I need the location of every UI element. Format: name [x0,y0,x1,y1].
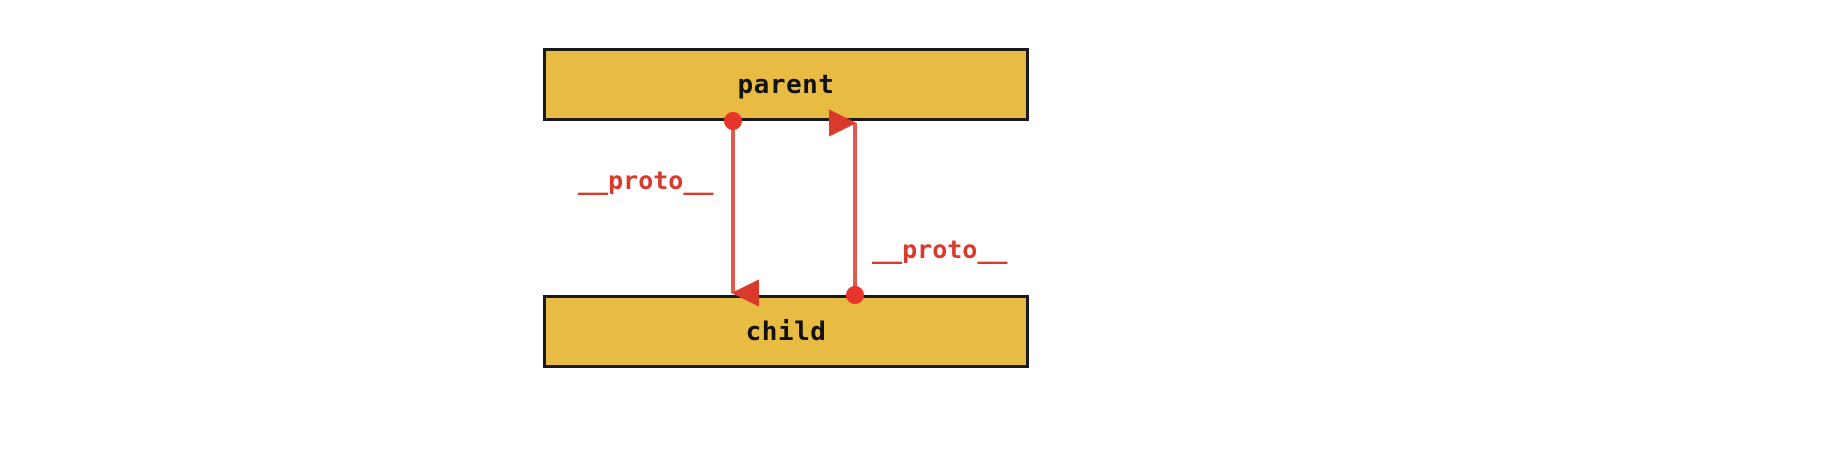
node-parent-label: parent [738,72,835,98]
node-child-label: child [746,319,827,345]
edge-label-proto-parent-to-child: __proto__ [578,168,713,193]
diagram-canvas: parent child __proto__ __proto__ [0,0,1829,462]
edge-parent-to-child[interactable] [724,112,742,293]
edge-label-proto-child-to-parent: __proto__ [872,237,1007,262]
node-parent-box[interactable]: parent [543,48,1029,121]
edge-child-to-parent[interactable] [846,123,864,304]
node-child-box[interactable]: child [543,295,1029,368]
